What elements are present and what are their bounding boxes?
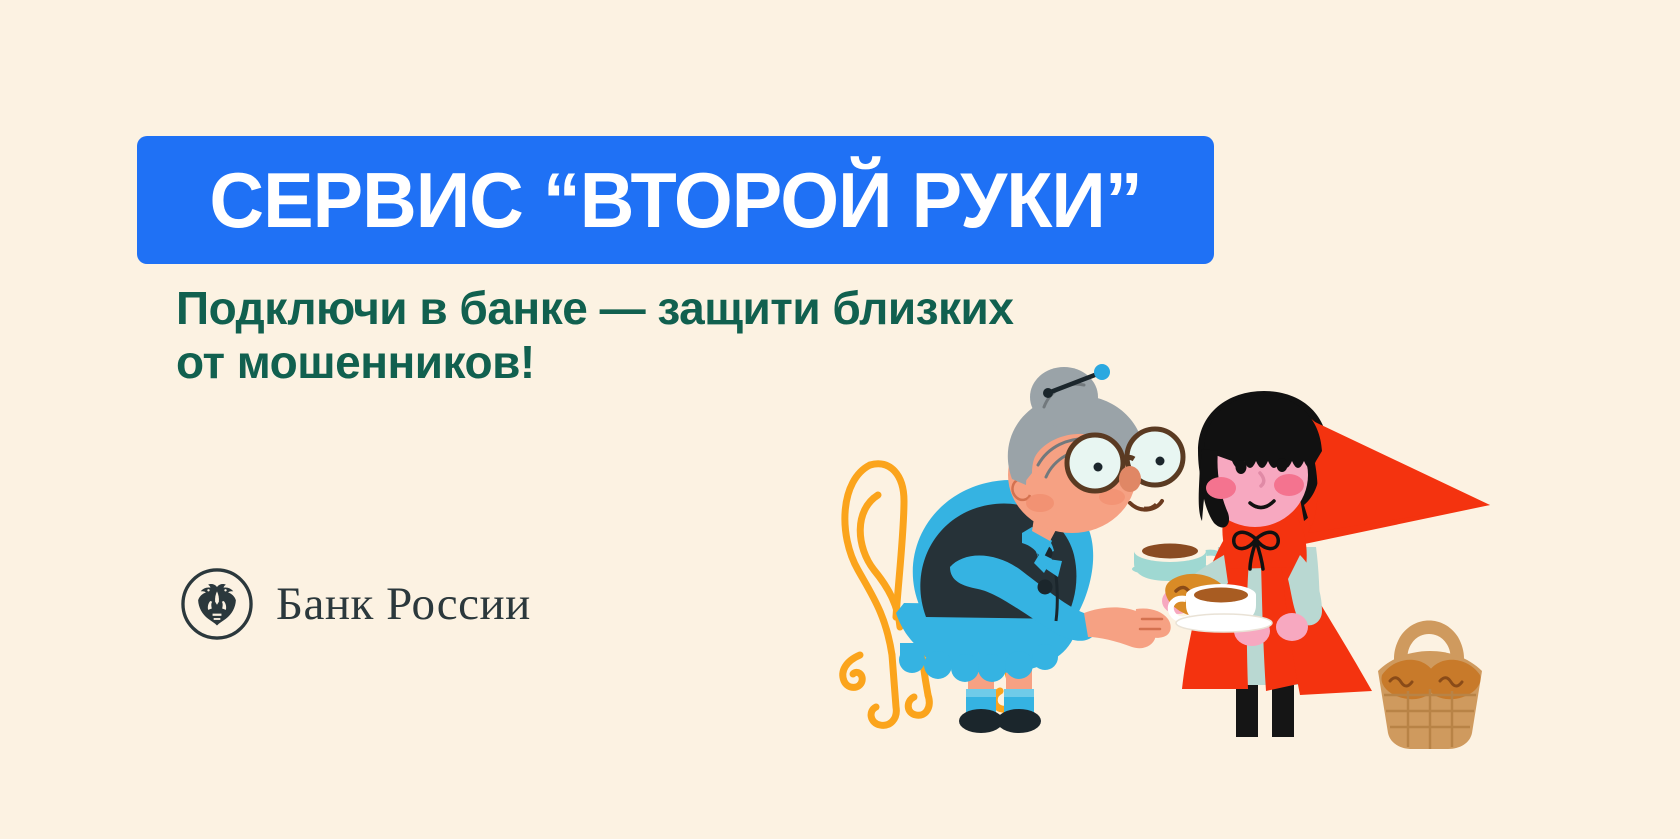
illustration-scene [800, 355, 1500, 755]
subtitle-line-1: Подключи в банке — защити близких [176, 282, 1176, 336]
poster-canvas: СЕРВИС “ВТОРОЙ РУКИ” Подключи в банке — … [0, 0, 1680, 839]
bread-basket [1378, 621, 1482, 750]
headline-banner: СЕРВИС “ВТОРОЙ РУКИ” [137, 136, 1214, 264]
logo-wordmark: Банк России [276, 581, 531, 628]
headline-text: СЕРВИС “ВТОРОЙ РУКИ” [209, 161, 1141, 239]
grandmother-figure [896, 364, 1223, 733]
bank-of-russia-logo: Банк России [180, 567, 531, 641]
double-headed-eagle-icon [180, 567, 254, 641]
